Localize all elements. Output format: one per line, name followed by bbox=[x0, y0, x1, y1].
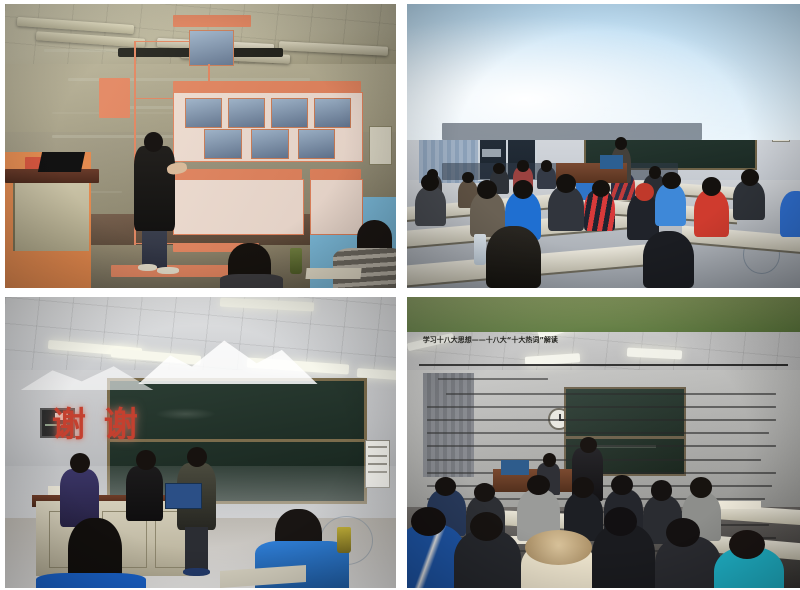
student bbox=[780, 191, 800, 236]
water-bottle bbox=[290, 248, 302, 274]
laptop bbox=[38, 152, 85, 172]
portrait-thumbnail bbox=[189, 30, 234, 66]
portrait-thumbnail bbox=[185, 98, 222, 128]
student-head bbox=[411, 507, 446, 536]
student-head bbox=[477, 180, 497, 198]
photo-top-right[interactable] bbox=[407, 4, 800, 288]
monitor bbox=[600, 155, 624, 169]
chart-detail-panel bbox=[310, 179, 363, 235]
assistant-head bbox=[543, 453, 557, 467]
student-body bbox=[220, 274, 283, 288]
slide-title: 学习十八大思想——十八大“十大热词”解读 bbox=[423, 335, 553, 345]
lecturer-head bbox=[144, 132, 164, 152]
student-head bbox=[666, 518, 699, 547]
student-head bbox=[592, 180, 610, 197]
presenter-legs bbox=[185, 527, 208, 571]
chart-side-label bbox=[99, 78, 130, 118]
student-shoulders bbox=[36, 573, 145, 588]
slide-body-line bbox=[446, 393, 552, 395]
presenter-head bbox=[136, 450, 156, 470]
student-head bbox=[556, 174, 576, 192]
portrait-thumbnail bbox=[271, 98, 308, 128]
student-head bbox=[541, 160, 553, 171]
open-notebook bbox=[305, 268, 361, 279]
student bbox=[627, 194, 658, 239]
presenter-body bbox=[126, 466, 163, 521]
student bbox=[694, 189, 729, 237]
student-head bbox=[527, 475, 551, 495]
speaker-head bbox=[580, 437, 597, 453]
chart-connector bbox=[134, 41, 197, 43]
student-head bbox=[517, 160, 529, 171]
chalk-rail bbox=[110, 439, 364, 442]
presenter-shoe bbox=[183, 568, 210, 577]
chart-detail-panel bbox=[173, 179, 304, 235]
portrait-thumbnail bbox=[204, 129, 241, 159]
chart-row-label bbox=[173, 81, 361, 92]
student-head bbox=[604, 507, 637, 536]
podium bbox=[13, 174, 89, 251]
water-bottle bbox=[337, 527, 351, 553]
student bbox=[655, 183, 686, 226]
student-head bbox=[513, 180, 533, 198]
monitor bbox=[501, 460, 529, 475]
student-head bbox=[649, 166, 662, 179]
slide-text-line bbox=[442, 123, 701, 140]
chart-detail-header bbox=[173, 169, 302, 179]
fur-hood bbox=[525, 530, 592, 565]
photo-top-left[interactable] bbox=[5, 4, 396, 288]
student-head bbox=[690, 477, 712, 497]
projector-screen[interactable] bbox=[407, 4, 517, 68]
student bbox=[415, 186, 446, 226]
chart-connector bbox=[208, 64, 210, 81]
slide-header-band bbox=[407, 297, 552, 332]
lecturer-body bbox=[134, 146, 175, 231]
portrait-thumbnail bbox=[314, 98, 351, 128]
student-head bbox=[702, 177, 722, 195]
portrait-thumbnail bbox=[251, 129, 288, 159]
student-head bbox=[662, 172, 680, 189]
student-head bbox=[651, 480, 673, 500]
chart-top-label bbox=[173, 15, 251, 26]
student-head bbox=[729, 530, 764, 559]
water-bottle bbox=[474, 234, 486, 265]
portrait-thumbnail bbox=[298, 129, 335, 159]
student-head bbox=[741, 169, 759, 186]
lecturer-shoe bbox=[157, 267, 179, 274]
photo-bottom-right[interactable]: 学习十八大思想——十八大“十大热词”解读 bbox=[407, 297, 800, 588]
student bbox=[486, 226, 541, 288]
student-head bbox=[611, 475, 633, 495]
photo-collage: 谢 谢 bbox=[0, 0, 800, 590]
student-head bbox=[462, 172, 474, 183]
student bbox=[643, 231, 694, 288]
photo-bottom-left[interactable]: 谢 谢 bbox=[5, 297, 396, 588]
student-head bbox=[635, 183, 654, 201]
laptop bbox=[165, 483, 202, 508]
student bbox=[733, 180, 764, 220]
portrait-thumbnail bbox=[228, 98, 265, 128]
wall-notice bbox=[369, 126, 393, 165]
lecturer-shoe bbox=[138, 264, 158, 271]
student-head bbox=[572, 477, 594, 497]
presenter-head bbox=[70, 453, 90, 473]
window-curtain bbox=[423, 373, 474, 478]
chart-detail-header bbox=[310, 169, 361, 179]
